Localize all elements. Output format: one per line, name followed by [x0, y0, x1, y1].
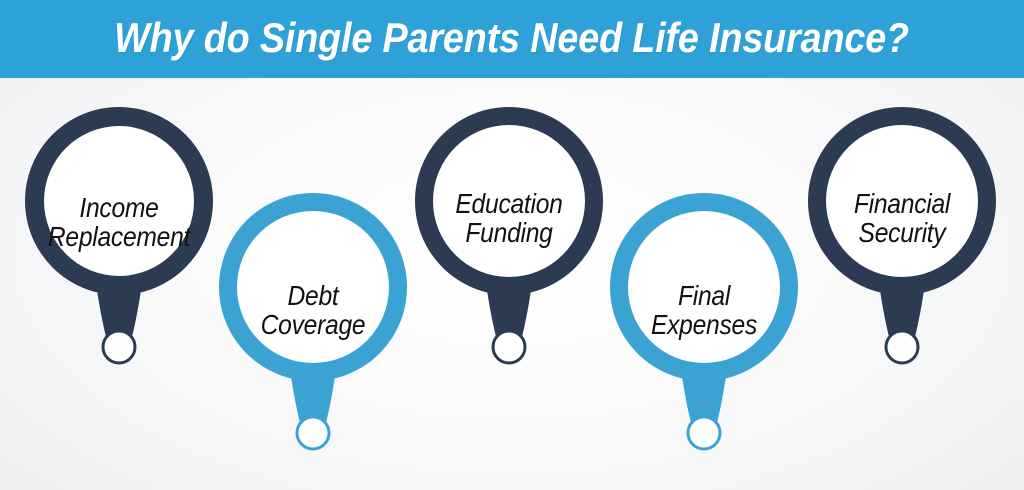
pin-group: Income Replacement Debt Coverage [0, 78, 1024, 490]
pin-tip-ring [886, 331, 918, 363]
infographic-root: Why do Single Parents Need Life Insuranc… [0, 0, 1024, 490]
pin-ring-inner-fill [826, 125, 978, 277]
pin-shape-icon [409, 104, 609, 364]
pin-ring-inner-fill [237, 211, 389, 363]
header-band: Why do Single Parents Need Life Insuranc… [0, 0, 1024, 78]
pin-ring-inner-fill [433, 125, 585, 277]
pin-tip-ring [493, 331, 525, 363]
pin-tip-ring [103, 331, 135, 363]
pin-tip-ring [688, 417, 720, 449]
pin-ring-inner-fill [44, 126, 194, 276]
page-title: Why do Single Parents Need Life Insuranc… [115, 17, 910, 61]
pin-tip-ring [297, 417, 329, 449]
pin-shape-icon [19, 104, 219, 364]
pin-shape-icon [604, 190, 804, 450]
pin-ring-inner-fill [628, 211, 780, 363]
pin-shape-icon [802, 104, 1002, 364]
pin-shape-icon [213, 190, 413, 450]
